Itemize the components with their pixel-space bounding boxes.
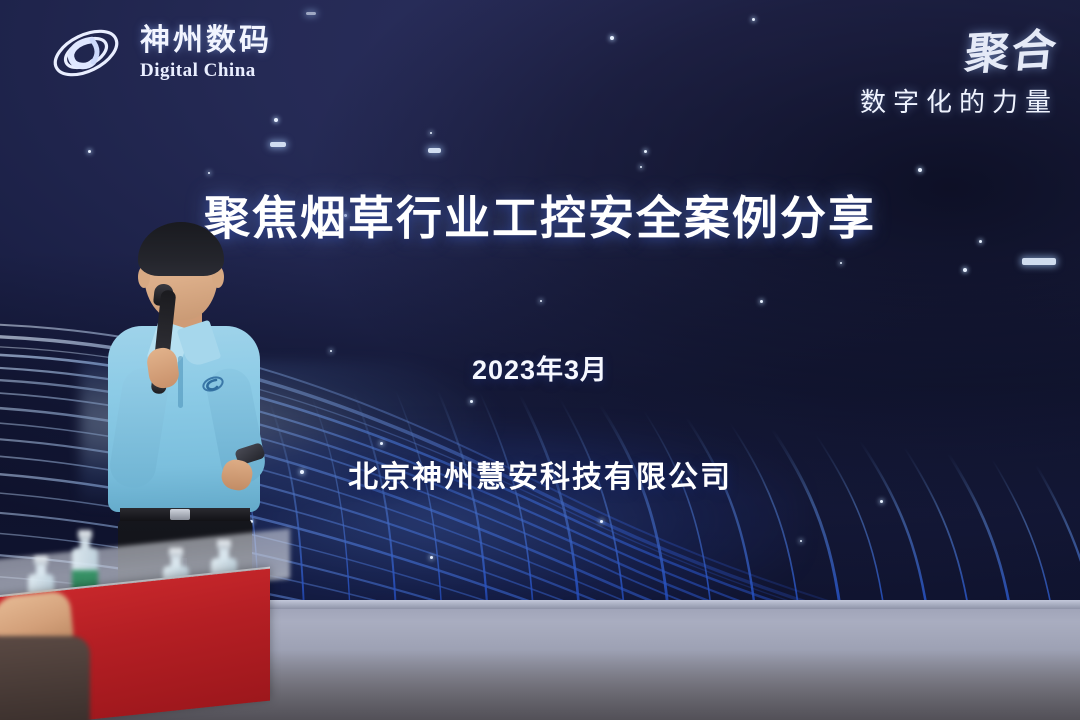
speaker-hair: [138, 222, 224, 276]
attendee-silhouette: [0, 636, 90, 720]
event-tagline: 数字化的力量: [860, 82, 1058, 119]
polo-placket: [178, 356, 183, 408]
bottle-cap: [169, 548, 183, 557]
digital-china-logo: 神州数码 Digital China: [46, 22, 272, 84]
bottle-cap: [217, 540, 231, 549]
bottle-cap: [78, 530, 92, 539]
logo-name-cn: 神州数码: [140, 26, 272, 56]
event-calligraphy: 聚合: [962, 14, 1061, 83]
digital-china-wordmark: 神州数码 Digital China: [140, 26, 272, 80]
polo-chest-logo-icon: [200, 374, 226, 394]
digital-china-swirl-logo-icon: [46, 22, 126, 84]
bottle-cap: [34, 556, 48, 565]
conference-photo: 神州数码 Digital China 聚合 数字化的力量 聚焦烟草行业工控安全案…: [0, 0, 1080, 720]
belt-buckle: [170, 509, 190, 520]
logo-name-en: Digital China: [140, 61, 272, 80]
event-branding: 聚合 数字化的力量: [860, 16, 1058, 119]
